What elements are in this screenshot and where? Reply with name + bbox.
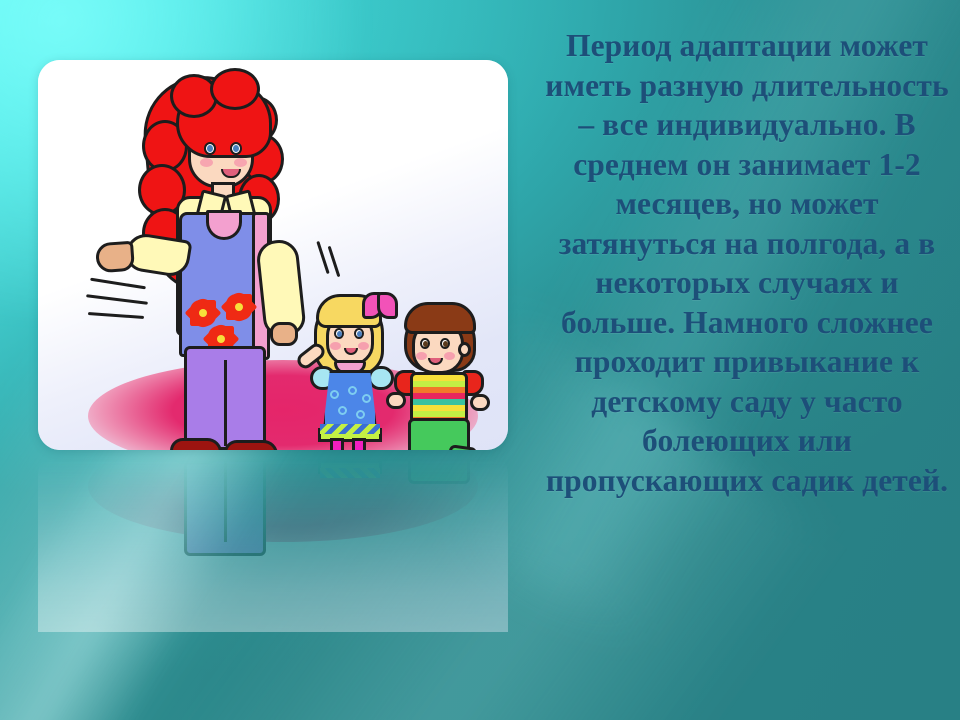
slide-body-text: Период адаптации может иметь разную длит… [540, 26, 954, 500]
illustration [38, 60, 508, 450]
illustration-card[interactable] [38, 60, 508, 450]
slide: Период адаптации может иметь разную длит… [0, 0, 960, 720]
